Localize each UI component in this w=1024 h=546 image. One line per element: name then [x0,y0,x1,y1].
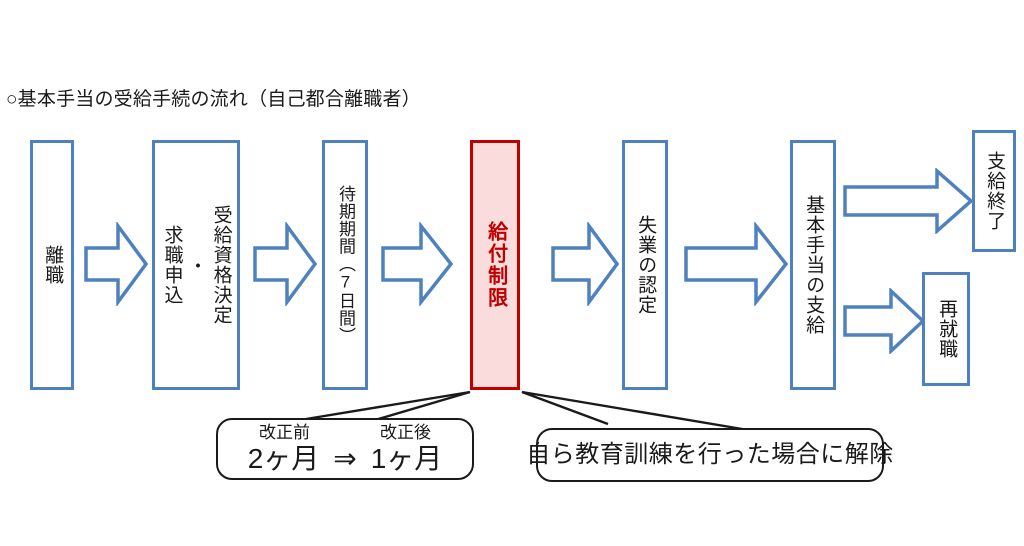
flow-step-kyufu-seigen[interactable]: 給付制限 [470,140,520,390]
flow-branch-shikyu-shuryo-label: 支給終了 [984,151,1004,231]
flow-arrow-7-to-reemployment [843,288,925,354]
flow-arrow-5 [684,222,788,306]
page-title: ○基本手当の受給手続の流れ（自己都合離職者） [6,88,421,112]
flow-arrow-6-to-end [843,168,973,234]
flow-step-kyushoku-moshikomi[interactable]: 受給資格決定 ・ 求職申込 [152,140,240,390]
flow-arrow-2 [253,222,317,306]
callout-revision-before-label: 改正前 [259,424,310,442]
flow-step-kyufu-seigen-label: 給付制限 [484,221,505,309]
flow-step-kyushoku-label-col-a: 受給資格決定 [211,205,231,325]
callout-revision-inner: 改正前 改正後 2ヶ月 ⇒ 1ヶ月 [218,420,472,478]
callout-revision-after-label: 改正後 [380,424,431,442]
flow-step-kihon-teate-shikyu[interactable]: 基本手当の支給 [790,140,836,390]
flow-branch-saishushoku[interactable]: 再就職 [922,272,970,386]
arrow-right-double-icon: ⇒ [333,443,356,475]
callout-exemption[interactable]: 自ら教育訓練を行った場合に解除 [536,428,884,482]
flow-step-kyushoku-text-group: 受給資格決定 ・ 求職申込 [161,205,230,325]
flow-branch-saishushoku-label: 再就職 [936,299,956,359]
flow-step-taiki-kikan-label: 待期期間（7日間） [336,185,354,345]
callout-revision-before-value: 2ヶ月 [248,443,320,475]
callout-revision-headers: 改正前 改正後 [218,424,472,442]
flow-arrow-1 [84,222,148,306]
flow-step-kyushoku-label-col-b: 求職申込 [161,225,181,305]
flow-arrow-4 [551,222,619,306]
flow-step-kihon-teate-shikyu-label: 基本手当の支給 [803,195,823,335]
flow-step-shitsugyo-nintei-label: 失業の認定 [635,215,655,315]
callout-exemption-inner: 自ら教育訓練を行った場合に解除 [538,430,882,480]
flow-step-shitsugyo-nintei[interactable]: 失業の認定 [622,140,668,390]
diagram-canvas: ○基本手当の受給手続の流れ（自己都合離職者） 離職 受給資格決定 ・ 求職申込 [0,0,1024,546]
callout-revision-period[interactable]: 改正前 改正後 2ヶ月 ⇒ 1ヶ月 [216,418,474,480]
callout-exemption-text: 自ら教育訓練を行った場合に解除 [526,441,894,469]
flow-branch-shikyu-shuryo[interactable]: 支給終了 [972,130,1016,252]
flow-step-taiki-kikan[interactable]: 待期期間（7日間） [322,140,368,390]
flow-arrow-3 [381,222,453,306]
flow-step-rishoku[interactable]: 離職 [30,140,74,390]
callout-revision-after-value: 1ヶ月 [371,443,443,475]
flow-step-rishoku-label: 離職 [42,245,62,285]
flow-step-kyushoku-separator: ・ [182,256,211,275]
callout-revision-values: 2ヶ月 ⇒ 1ヶ月 [248,443,443,475]
